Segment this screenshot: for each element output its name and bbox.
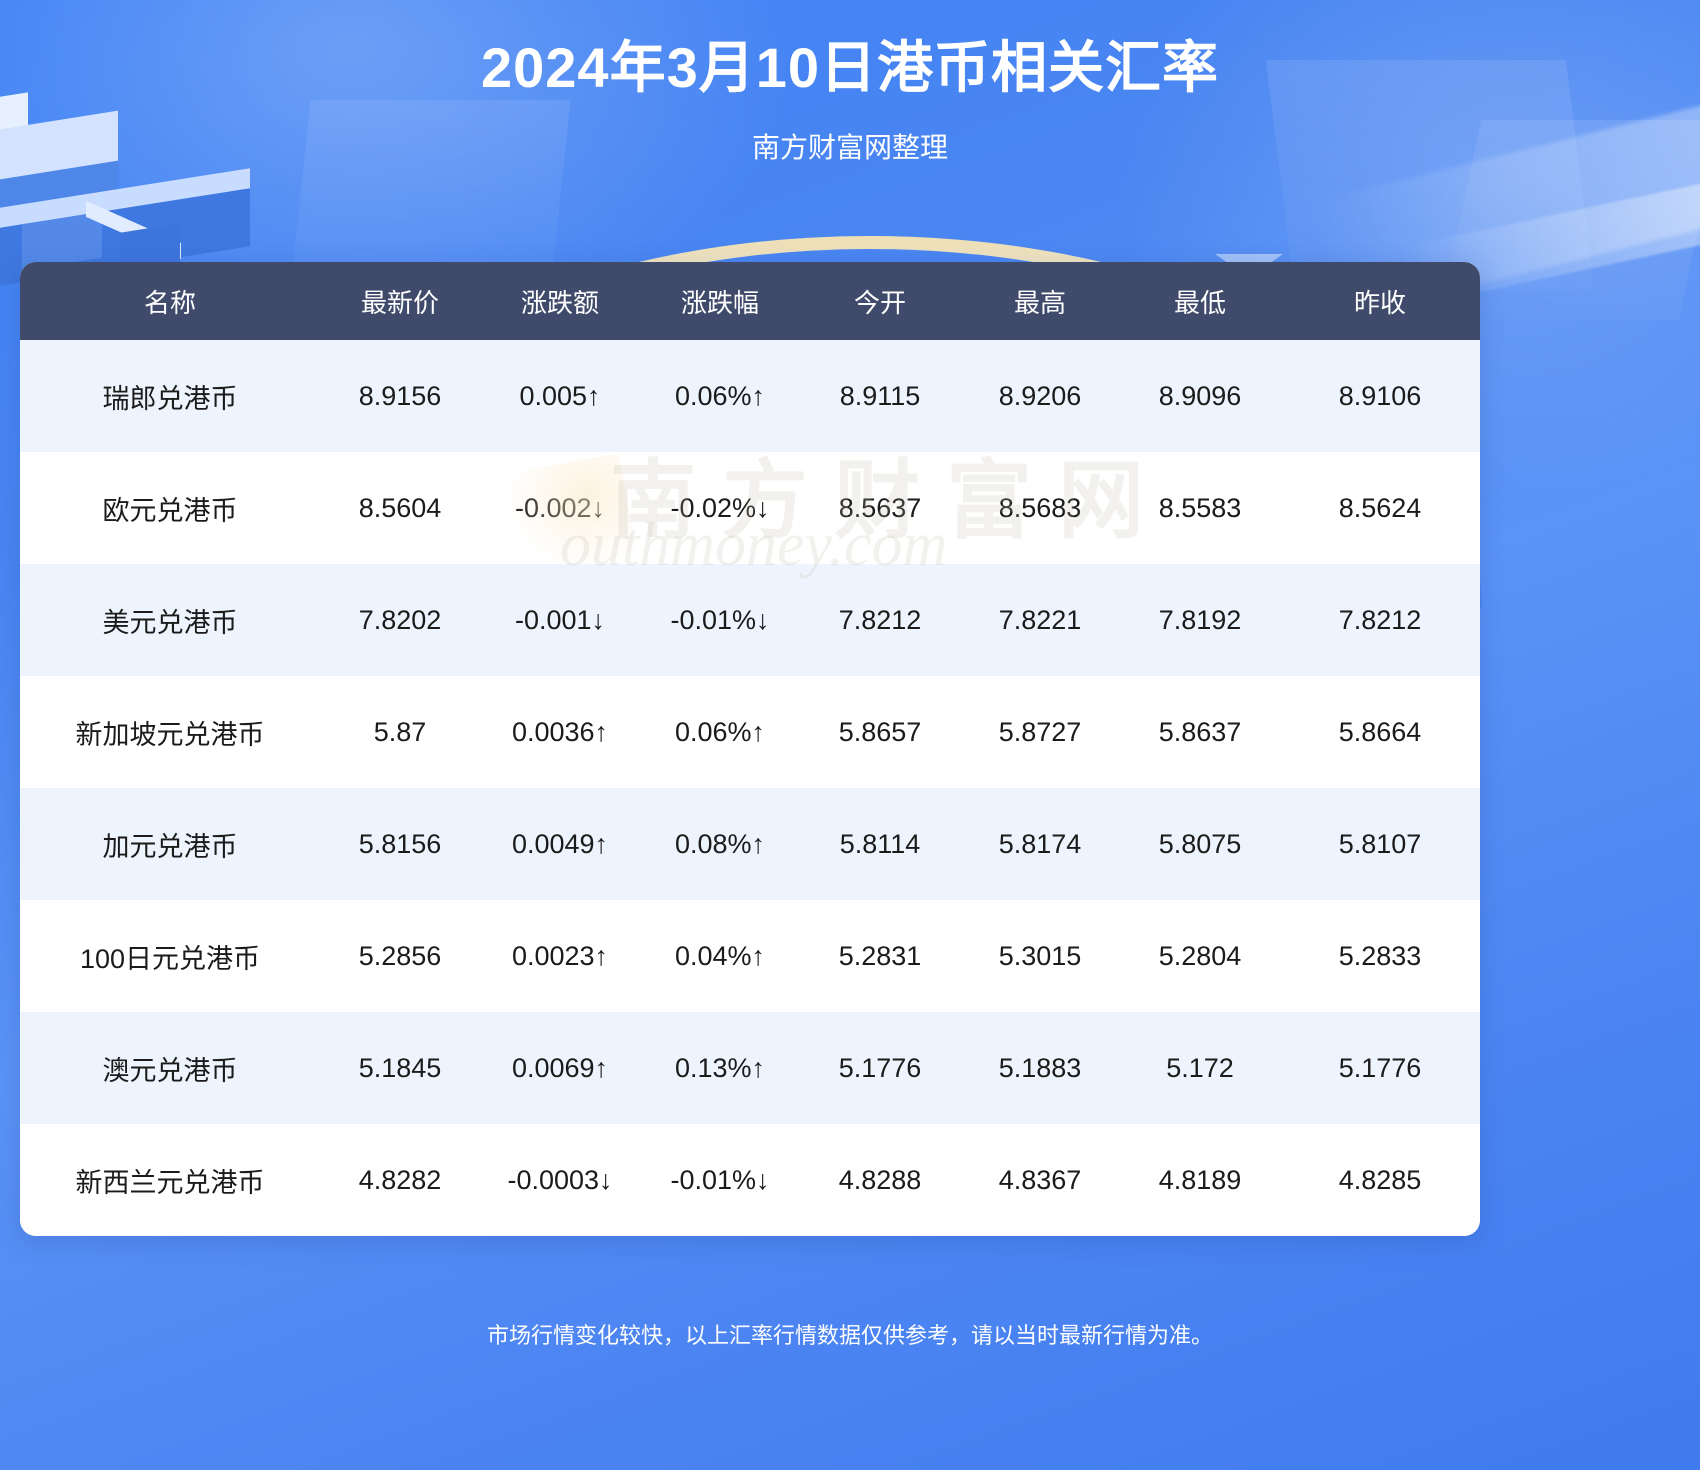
- cell-high: 5.8174: [960, 788, 1120, 900]
- cell-change-percent: 0.06%↑: [640, 676, 800, 788]
- column-header-open[interactable]: 今开: [800, 262, 960, 340]
- cell-change-percent: 0.08%↑: [640, 788, 800, 900]
- column-header-prev[interactable]: 昨收: [1280, 262, 1480, 340]
- cell-last-price: 7.8202: [320, 564, 480, 676]
- cell-open: 7.8212: [800, 564, 960, 676]
- page-root: 2024年3月10日港币相关汇率 南方财富网整理 名称 最新价 涨跌额 涨跌幅 …: [0, 0, 1700, 1470]
- column-header-pct[interactable]: 涨跌幅: [640, 262, 800, 340]
- page-title: 2024年3月10日港币相关汇率: [0, 36, 1700, 100]
- cell-high: 5.8727: [960, 676, 1120, 788]
- disclaimer-note: 市场行情变化较快，以上汇率行情数据仅供参考，请以当时最新行情为准。: [0, 1318, 1700, 1350]
- table-head: 名称 最新价 涨跌额 涨跌幅 今开 最高 最低 昨收: [20, 262, 1480, 340]
- cell-low: 7.8192: [1120, 564, 1280, 676]
- cell-low: 8.5583: [1120, 452, 1280, 564]
- cell-last-price: 5.2856: [320, 900, 480, 1012]
- cell-name: 100日元兑港币: [20, 900, 320, 1012]
- cell-name: 美元兑港币: [20, 564, 320, 676]
- cell-low: 5.2804: [1120, 900, 1280, 1012]
- decor-building-2: [0, 161, 118, 250]
- cell-change-amount: 0.0069↑: [480, 1012, 640, 1124]
- cell-name: 澳元兑港币: [20, 1012, 320, 1124]
- cell-prev-close: 5.1776: [1280, 1012, 1480, 1124]
- cell-change-amount: -0.001↓: [480, 564, 640, 676]
- page-header: 2024年3月10日港币相关汇率 南方财富网整理: [0, 0, 1700, 166]
- column-header-low[interactable]: 最低: [1120, 262, 1280, 340]
- table-row[interactable]: 美元兑港币7.8202-0.001↓-0.01%↓7.82127.82217.8…: [20, 564, 1480, 676]
- cell-prev-close: 8.5624: [1280, 452, 1480, 564]
- column-header-last[interactable]: 最新价: [320, 262, 480, 340]
- cell-open: 4.8288: [800, 1124, 960, 1236]
- cell-prev-close: 7.8212: [1280, 564, 1480, 676]
- cell-change-amount: 0.0036↑: [480, 676, 640, 788]
- page-subtitle: 南方财富网整理: [0, 126, 1700, 166]
- cell-high: 8.5683: [960, 452, 1120, 564]
- cell-change-amount: -0.002↓: [480, 452, 640, 564]
- cell-open: 5.8657: [800, 676, 960, 788]
- table-row[interactable]: 新加坡元兑港币5.870.0036↑0.06%↑5.86575.87275.86…: [20, 676, 1480, 788]
- column-header-high[interactable]: 最高: [960, 262, 1120, 340]
- cell-change-percent: 0.13%↑: [640, 1012, 800, 1124]
- cell-open: 5.1776: [800, 1012, 960, 1124]
- exchange-rate-table: 名称 最新价 涨跌额 涨跌幅 今开 最高 最低 昨收 瑞郎兑港币8.91560.…: [20, 262, 1480, 1236]
- cell-change-percent: 0.04%↑: [640, 900, 800, 1012]
- cell-prev-close: 5.8107: [1280, 788, 1480, 900]
- cell-prev-close: 4.8285: [1280, 1124, 1480, 1236]
- cell-last-price: 4.8282: [320, 1124, 480, 1236]
- cell-change-amount: -0.0003↓: [480, 1124, 640, 1236]
- cell-prev-close: 5.8664: [1280, 676, 1480, 788]
- cell-name: 新西兰元兑港币: [20, 1124, 320, 1236]
- table-row[interactable]: 欧元兑港币8.5604-0.002↓-0.02%↓8.56378.56838.5…: [20, 452, 1480, 564]
- table-body: 瑞郎兑港币8.91560.005↑0.06%↑8.91158.92068.909…: [20, 340, 1480, 1236]
- cell-name: 新加坡元兑港币: [20, 676, 320, 788]
- cell-change-percent: -0.02%↓: [640, 452, 800, 564]
- decor-building-6: [86, 201, 181, 259]
- table-row[interactable]: 100日元兑港币5.28560.0023↑0.04%↑5.28315.30155…: [20, 900, 1480, 1012]
- cell-low: 8.9096: [1120, 340, 1280, 452]
- cell-low: 5.172: [1120, 1012, 1280, 1124]
- cell-change-percent: -0.01%↓: [640, 1124, 800, 1236]
- cell-last-price: 5.8156: [320, 788, 480, 900]
- table-header-row: 名称 最新价 涨跌额 涨跌幅 今开 最高 最低 昨收: [20, 262, 1480, 340]
- cell-change-amount: 0.005↑: [480, 340, 640, 452]
- cell-open: 5.8114: [800, 788, 960, 900]
- cell-low: 5.8075: [1120, 788, 1280, 900]
- cell-last-price: 8.5604: [320, 452, 480, 564]
- cell-last-price: 5.87: [320, 676, 480, 788]
- cell-name: 欧元兑港币: [20, 452, 320, 564]
- column-header-change[interactable]: 涨跌额: [480, 262, 640, 340]
- cell-change-percent: -0.01%↓: [640, 564, 800, 676]
- cell-high: 4.8367: [960, 1124, 1120, 1236]
- table-row[interactable]: 加元兑港币5.81560.0049↑0.08%↑5.81145.81745.80…: [20, 788, 1480, 900]
- cell-high: 8.9206: [960, 340, 1120, 452]
- table-row[interactable]: 新西兰元兑港币4.8282-0.0003↓-0.01%↓4.82884.8367…: [20, 1124, 1480, 1236]
- cell-low: 5.8637: [1120, 676, 1280, 788]
- rates-card: 名称 最新价 涨跌额 涨跌幅 今开 最高 最低 昨收 瑞郎兑港币8.91560.…: [20, 262, 1480, 1236]
- decor-building-4: [0, 168, 250, 228]
- cell-last-price: 5.1845: [320, 1012, 480, 1124]
- cell-low: 4.8189: [1120, 1124, 1280, 1236]
- cell-name: 加元兑港币: [20, 788, 320, 900]
- cell-change-percent: 0.06%↑: [640, 340, 800, 452]
- table-row[interactable]: 瑞郎兑港币8.91560.005↑0.06%↑8.91158.92068.909…: [20, 340, 1480, 452]
- cell-change-amount: 0.0023↑: [480, 900, 640, 1012]
- column-header-name[interactable]: 名称: [20, 262, 320, 340]
- cell-high: 5.1883: [960, 1012, 1120, 1124]
- cell-high: 5.3015: [960, 900, 1120, 1012]
- cell-name: 瑞郎兑港币: [20, 340, 320, 452]
- cell-change-amount: 0.0049↑: [480, 788, 640, 900]
- cell-open: 8.9115: [800, 340, 960, 452]
- cell-open: 8.5637: [800, 452, 960, 564]
- table-row[interactable]: 澳元兑港币5.18450.0069↑0.13%↑5.17765.18835.17…: [20, 1012, 1480, 1124]
- cell-open: 5.2831: [800, 900, 960, 1012]
- cell-prev-close: 8.9106: [1280, 340, 1480, 452]
- cell-prev-close: 5.2833: [1280, 900, 1480, 1012]
- cell-last-price: 8.9156: [320, 340, 480, 452]
- cell-high: 7.8221: [960, 564, 1120, 676]
